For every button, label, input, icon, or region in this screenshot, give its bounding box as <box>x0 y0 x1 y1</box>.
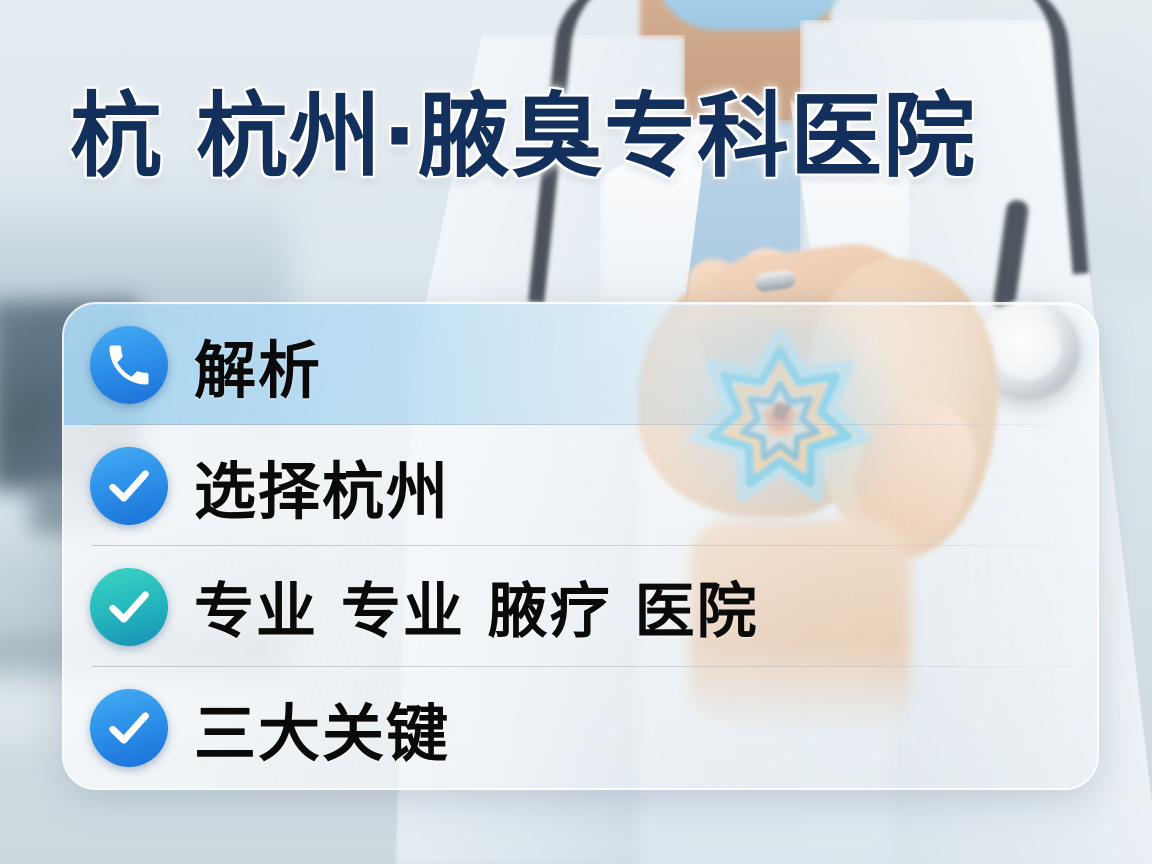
list-item[interactable]: 专业 专业 腋疗 医院 <box>64 546 1097 667</box>
feature-card: 解析 选择杭州 专业 专业 腋疗 医院 <box>62 302 1099 790</box>
list-item[interactable]: 解析 <box>64 304 1097 425</box>
list-item[interactable]: 选择杭州 <box>64 425 1097 546</box>
list-item-label: 选择杭州 <box>194 441 450 531</box>
check-circle-icon <box>90 689 168 767</box>
phone-icon <box>90 326 168 404</box>
list-item-label: 三大关键 <box>194 683 450 773</box>
list-item-label: 专业 专业 腋疗 医院 <box>194 563 759 650</box>
list-item-label: 解析 <box>194 320 322 410</box>
check-circle-icon <box>90 447 168 525</box>
list-item[interactable]: 三大关键 <box>64 667 1097 788</box>
check-circle-icon <box>90 568 168 646</box>
poster-canvas: 杭 杭州·腋臭专科医院 解析 选择杭州 <box>0 0 1152 864</box>
page-title: 杭 杭州·腋臭专科医院 <box>70 88 976 186</box>
